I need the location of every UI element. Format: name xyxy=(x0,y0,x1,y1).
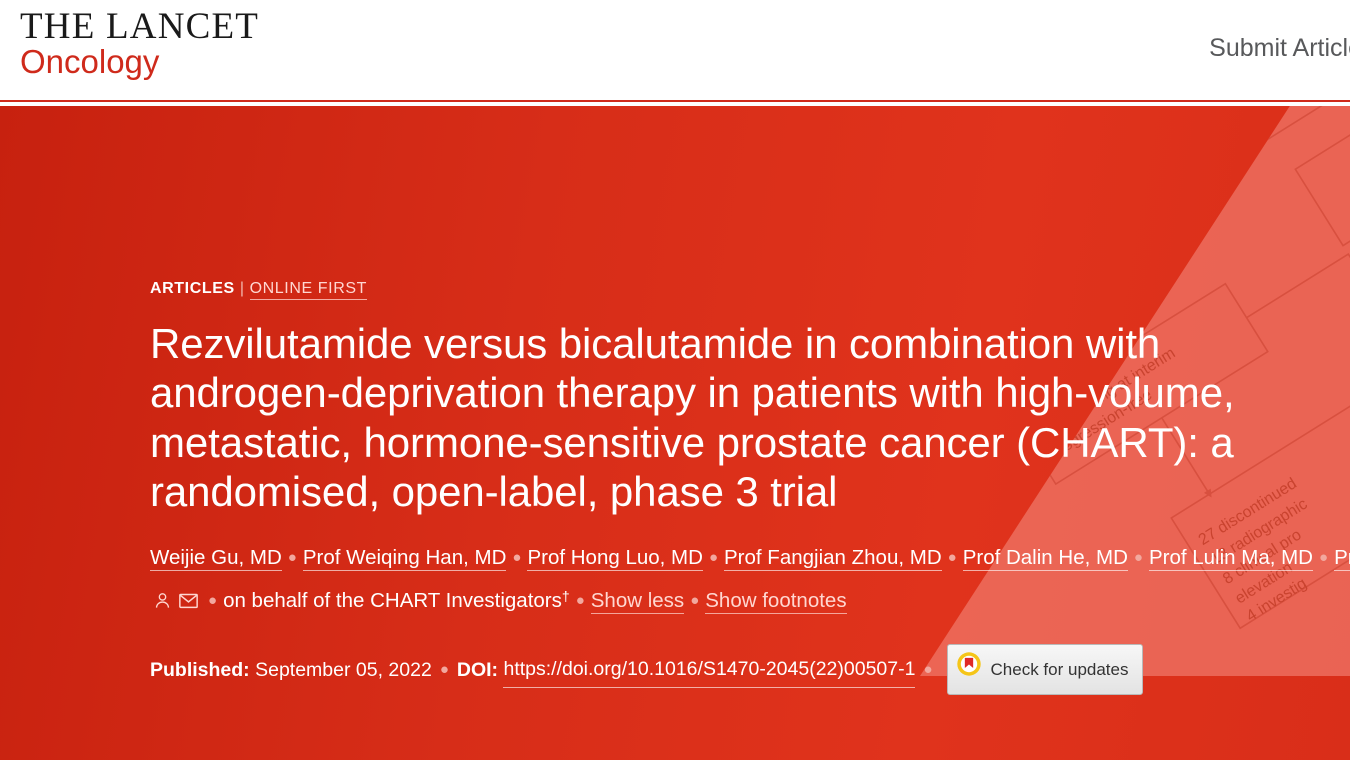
author-separator: ● xyxy=(506,549,527,566)
crossmark-check-for-updates-button[interactable]: Check for updates xyxy=(947,644,1144,695)
breadcrumb-divider: | xyxy=(235,280,250,297)
online-first-link[interactable]: ONLINE FIRST xyxy=(250,280,367,300)
logo-oncology-text: Oncology xyxy=(20,44,259,80)
author-separator: ● xyxy=(1128,549,1149,566)
breadcrumb: ARTICLES|ONLINE FIRST xyxy=(150,281,1260,297)
lancet-oncology-logo[interactable]: THE LANCET Oncology xyxy=(20,8,259,80)
show-less-button[interactable]: Show less xyxy=(591,589,684,614)
article-header-block: ARTICLES|ONLINE FIRST Rezvilutamide vers… xyxy=(150,281,1260,695)
author-link[interactable]: Prof Weiqing Han, MD xyxy=(303,546,507,571)
publication-meta-line: Published: September 05, 2022●DOI: https… xyxy=(150,644,1260,695)
published-date: September 05, 2022 xyxy=(255,653,432,687)
header-rule-gap xyxy=(0,102,1350,104)
author-separator: ● xyxy=(570,592,591,609)
author-link[interactable]: Prof Hongqian Guo, MD xyxy=(1334,546,1350,571)
site-header: THE LANCET Oncology Submit Article xyxy=(0,0,1350,100)
author-link[interactable]: Prof Hong Luo, MD xyxy=(527,546,702,571)
author-separator: ● xyxy=(1313,549,1334,566)
person-icon[interactable] xyxy=(153,591,172,610)
author-link[interactable]: Prof Dalin He, MD xyxy=(963,546,1128,571)
article-hero-banner: 3 218 ongoing at interim progression-fre… xyxy=(0,106,1350,760)
author-link[interactable]: Prof Lulin Ma, MD xyxy=(1149,546,1313,571)
show-footnotes-button[interactable]: Show footnotes xyxy=(705,589,846,614)
published-label: Published: xyxy=(150,653,250,687)
group-credit-text: on behalf of the CHART Investigators xyxy=(223,589,562,612)
meta-separator: ● xyxy=(432,653,457,687)
author-separator: ● xyxy=(202,592,223,609)
author-separator: ● xyxy=(282,549,303,566)
article-landing-page: THE LANCET Oncology Submit Article xyxy=(0,0,1350,760)
crossmark-label: Check for updates xyxy=(991,653,1129,687)
author-link[interactable]: Weijie Gu, MD xyxy=(150,546,282,571)
article-type-label: ARTICLES xyxy=(150,280,235,297)
submit-article-link[interactable]: Submit Article xyxy=(1209,34,1350,63)
author-link[interactable]: Prof Fangjian Zhou, MD xyxy=(724,546,942,571)
footnote-dagger-marker[interactable]: † xyxy=(562,588,570,604)
doi-label: DOI: xyxy=(457,653,498,687)
meta-separator: ● xyxy=(915,653,940,687)
header-divider-rule xyxy=(0,100,1350,106)
author-separator: ● xyxy=(703,549,724,566)
author-separator: ● xyxy=(684,592,705,609)
envelope-icon[interactable] xyxy=(178,591,199,610)
logo-lancet-text: THE LANCET xyxy=(20,8,259,46)
doi-link[interactable]: https://doi.org/10.1016/S1470-2045(22)00… xyxy=(503,652,915,688)
author-list: Weijie Gu, MD●Prof Weiqing Han, MD●Prof … xyxy=(150,538,1225,620)
crossmark-logo-icon xyxy=(956,651,982,688)
page-title: Rezvilutamide versus bicalutamide in com… xyxy=(150,319,1260,516)
author-separator: ● xyxy=(942,549,963,566)
